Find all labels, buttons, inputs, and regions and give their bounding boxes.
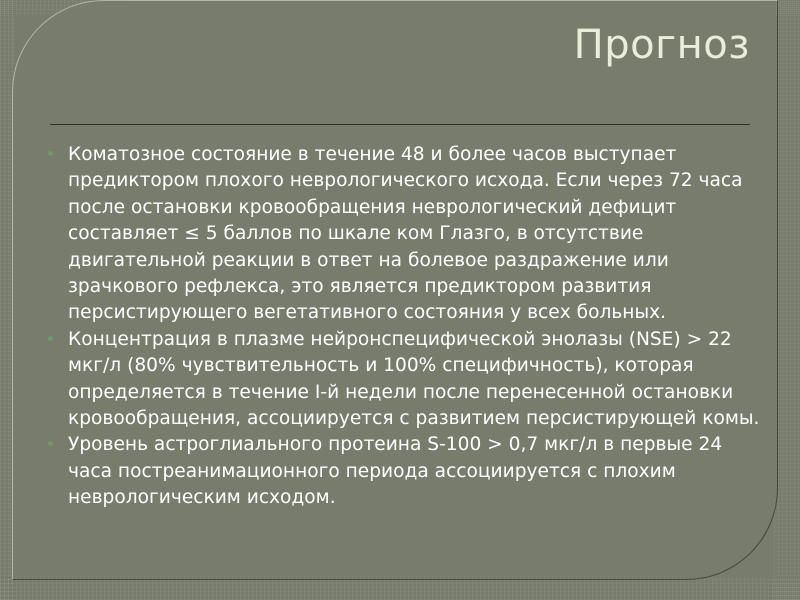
bullet-item-text: Уровень астроглиального протеина S-100 >… (68, 432, 760, 511)
bullet-item-text: Концентрация в плазме нейронспецифическо… (68, 327, 760, 433)
bullet-dot-icon (48, 151, 53, 156)
bullet-dot-icon (48, 336, 53, 341)
slide-title-block: Прогноз (50, 22, 750, 68)
slide-border-texture-right (774, 0, 800, 600)
bullet-item-text: Коматозное состояние в течение 48 и боле… (68, 142, 760, 327)
slide-border-texture-bottom (0, 578, 800, 600)
bullet-item: Концентрация в плазме нейронспецифическо… (44, 327, 760, 433)
slide-title: Прогноз (574, 22, 750, 68)
title-divider (50, 124, 750, 125)
bullet-item: Уровень астроглиального протеина S-100 >… (44, 432, 760, 511)
bullet-dot-icon (48, 441, 53, 446)
slide-bullet-list: Коматозное состояние в течение 48 и боле… (44, 142, 760, 512)
presentation-slide: Прогноз Коматозное состояние в течение 4… (0, 0, 800, 600)
bullet-item: Коматозное состояние в течение 48 и боле… (44, 142, 760, 327)
